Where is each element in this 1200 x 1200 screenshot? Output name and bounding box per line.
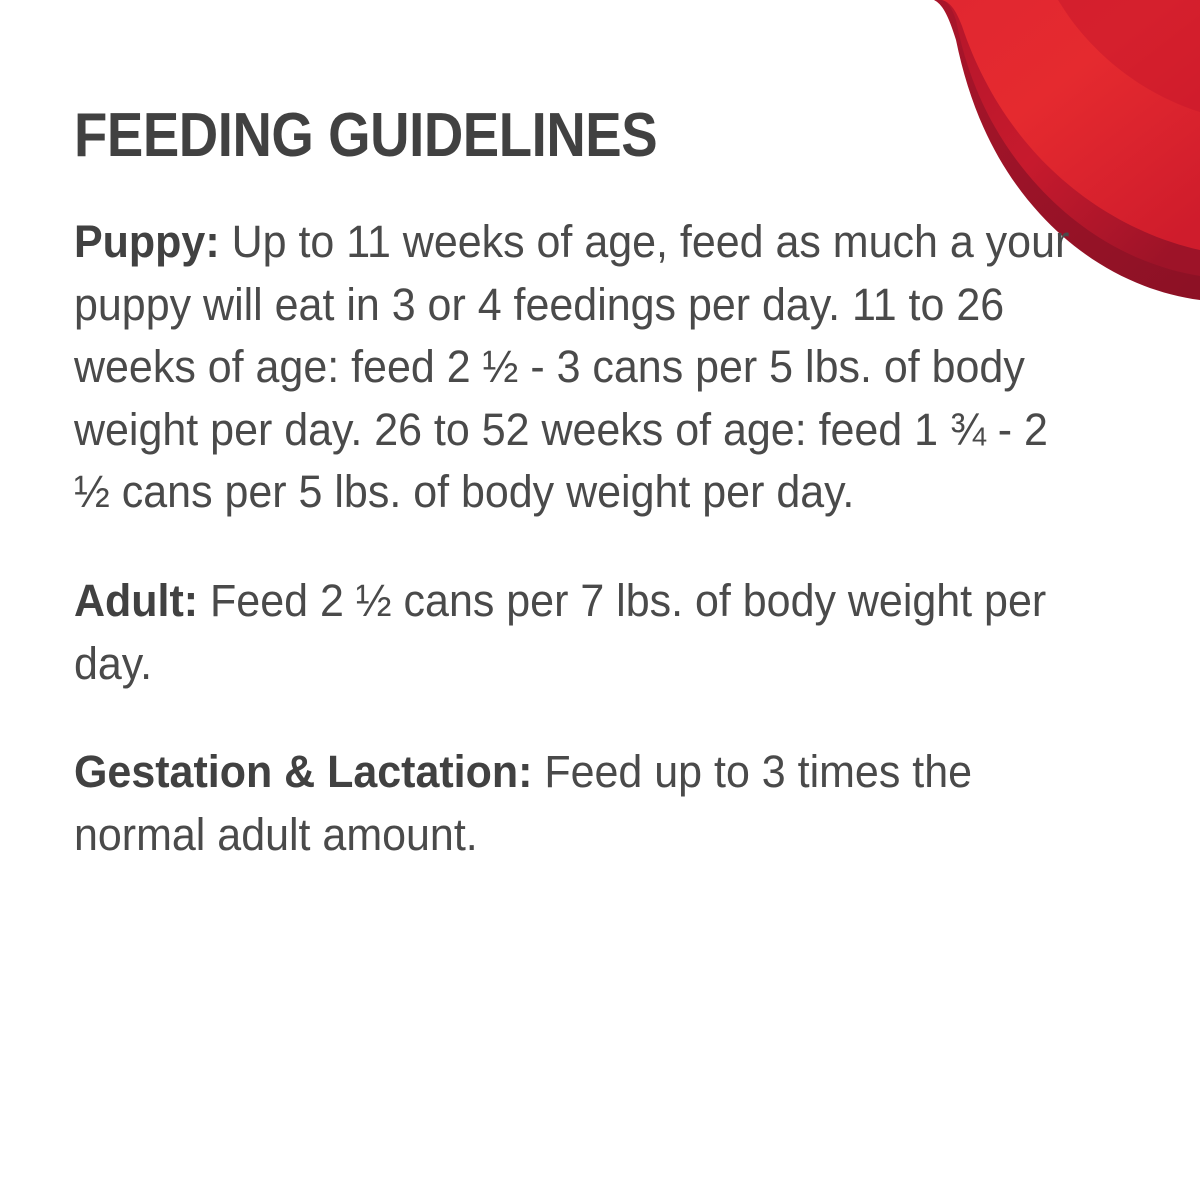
feeding-guidelines-panel: FEEDING GUIDELINES Puppy: Up to 11 weeks… [0,0,1200,1200]
section-label-puppy: Puppy: [74,216,220,267]
section-text-puppy: Up to 11 weeks of age, feed as much a yo… [74,216,1069,517]
section-label-adult: Adult: [74,575,198,626]
feeding-section-puppy: Puppy: Up to 11 weeks of age, feed as mu… [74,211,1086,524]
swoosh-highlight [1058,0,1200,112]
feeding-section-adult: Adult: Feed 2 ½ cans per 7 lbs. of body … [74,570,1086,695]
page-title: FEEDING GUIDELINES [74,104,1007,167]
feeding-section-gestation-lactation: Gestation & Lactation: Feed up to 3 time… [74,741,1086,866]
section-text-adult: Feed 2 ½ cans per 7 lbs. of body weight … [74,575,1046,689]
guidelines-content: FEEDING GUIDELINES Puppy: Up to 11 weeks… [74,104,1134,866]
section-label-gestation-lactation: Gestation & Lactation: [74,746,532,797]
